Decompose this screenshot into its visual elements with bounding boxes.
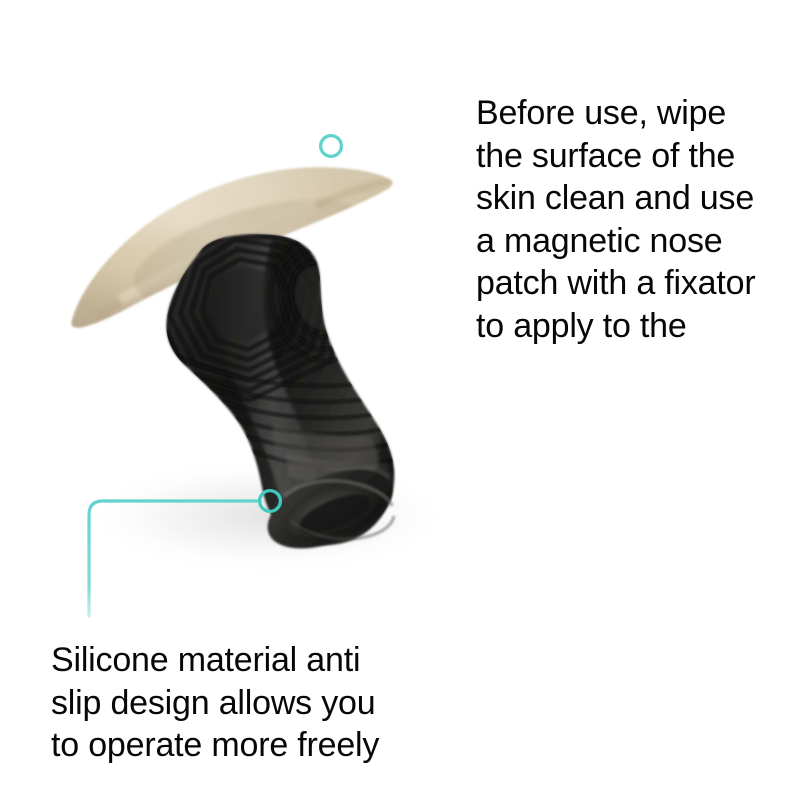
- caption-top-right: Before use, wipe the surface of the skin…: [476, 92, 794, 347]
- infographic-canvas: Before use, wipe the surface of the skin…: [0, 0, 800, 800]
- caption-bottom-left: Silicone material anti slip design allow…: [51, 639, 431, 767]
